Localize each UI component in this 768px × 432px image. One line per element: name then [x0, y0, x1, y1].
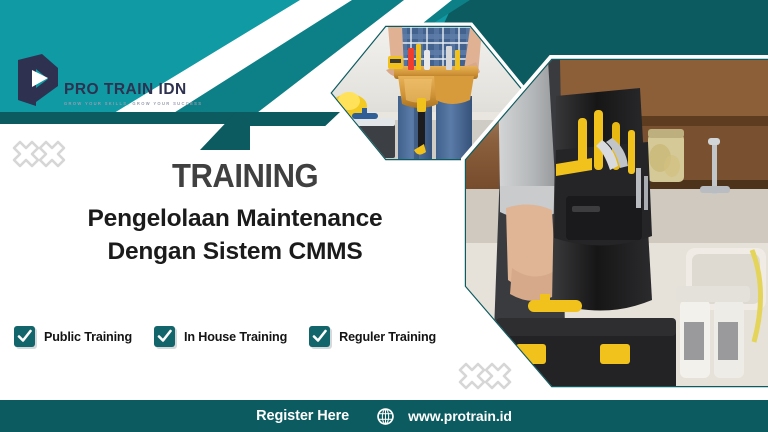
checkbox-checked-icon[interactable] [309, 326, 330, 347]
training-type-in-house[interactable]: In House Training [154, 326, 287, 347]
training-type-label: Public Training [44, 330, 132, 344]
footer-bar: Register Here www.protrain.id [0, 400, 768, 432]
training-type-label: In House Training [184, 330, 287, 344]
x-pattern-decoration-right [460, 364, 510, 388]
check-mark-icon [312, 329, 327, 344]
pro-train-arrow-mark [14, 52, 60, 108]
training-type-list: Public Training In House Training Regule… [14, 326, 458, 347]
title-line-1: Pengelolaan Maintenance [88, 205, 383, 232]
website-url[interactable]: www.protrain.id [408, 408, 512, 424]
title-line-2: Dengan Sistem CMMS [0, 236, 470, 269]
training-type-label: Reguler Training [339, 330, 436, 344]
check-mark-icon [157, 329, 172, 344]
brand-logo-text: PRO TRAIN IDN GROW YOUR SKILLS, GROW YOU… [64, 52, 202, 106]
globe-icon [376, 407, 395, 426]
register-here-label[interactable]: Register Here [256, 408, 349, 424]
brand-name: PRO TRAIN IDN [64, 82, 202, 98]
eyebrow-training: TRAINING [172, 159, 318, 192]
checkbox-checked-icon[interactable] [14, 326, 35, 347]
checkbox-checked-icon[interactable] [154, 326, 175, 347]
brand-tagline: GROW YOUR SKILLS, GROW YOUR SUCCESS [64, 102, 202, 106]
check-mark-icon [17, 329, 32, 344]
poster-canvas: PRO TRAIN IDN GROW YOUR SKILLS, GROW YOU… [0, 0, 768, 432]
photo-technician-carrying-tool-bag [460, 55, 768, 400]
training-type-public[interactable]: Public Training [14, 326, 132, 347]
page-title: Pengelolaan Maintenance Dengan Sistem CM… [0, 203, 470, 268]
training-type-reguler[interactable]: Reguler Training [309, 326, 436, 347]
brand-logo[interactable]: PRO TRAIN IDN GROW YOUR SKILLS, GROW YOU… [14, 52, 202, 108]
